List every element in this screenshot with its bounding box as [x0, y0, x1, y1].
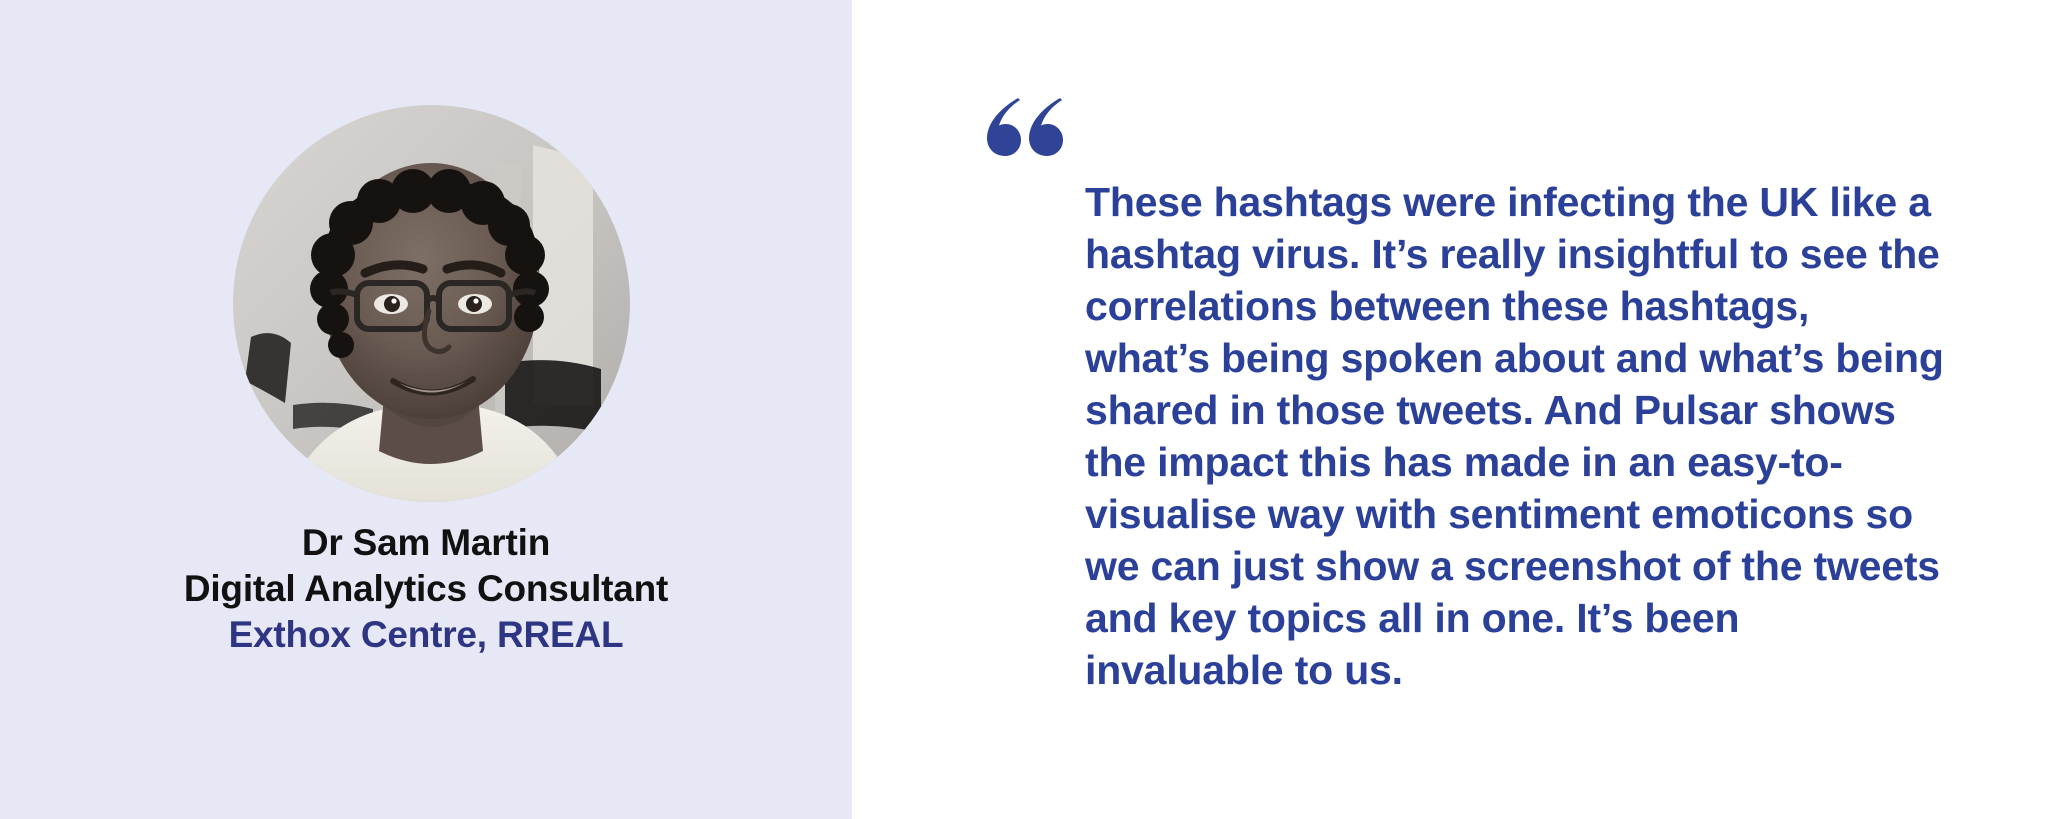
- attribution: Dr Sam Martin Digital Analytics Consulta…: [0, 524, 852, 653]
- portrait-photo-icon: [233, 105, 630, 502]
- profile-name: Dr Sam Martin: [0, 524, 852, 561]
- avatar: [233, 105, 630, 502]
- quote-text: These hashtags were infecting the UK lik…: [1085, 176, 1945, 696]
- testimonial-card: Dr Sam Martin Digital Analytics Consulta…: [0, 0, 2048, 819]
- profile-organisation: Exthox Centre, RREAL: [0, 616, 852, 653]
- quotation-mark-icon: [985, 96, 1065, 176]
- quote-panel: These hashtags were infecting the UK lik…: [852, 0, 2048, 819]
- profile-role: Digital Analytics Consultant: [0, 570, 852, 607]
- profile-panel: Dr Sam Martin Digital Analytics Consulta…: [0, 0, 852, 819]
